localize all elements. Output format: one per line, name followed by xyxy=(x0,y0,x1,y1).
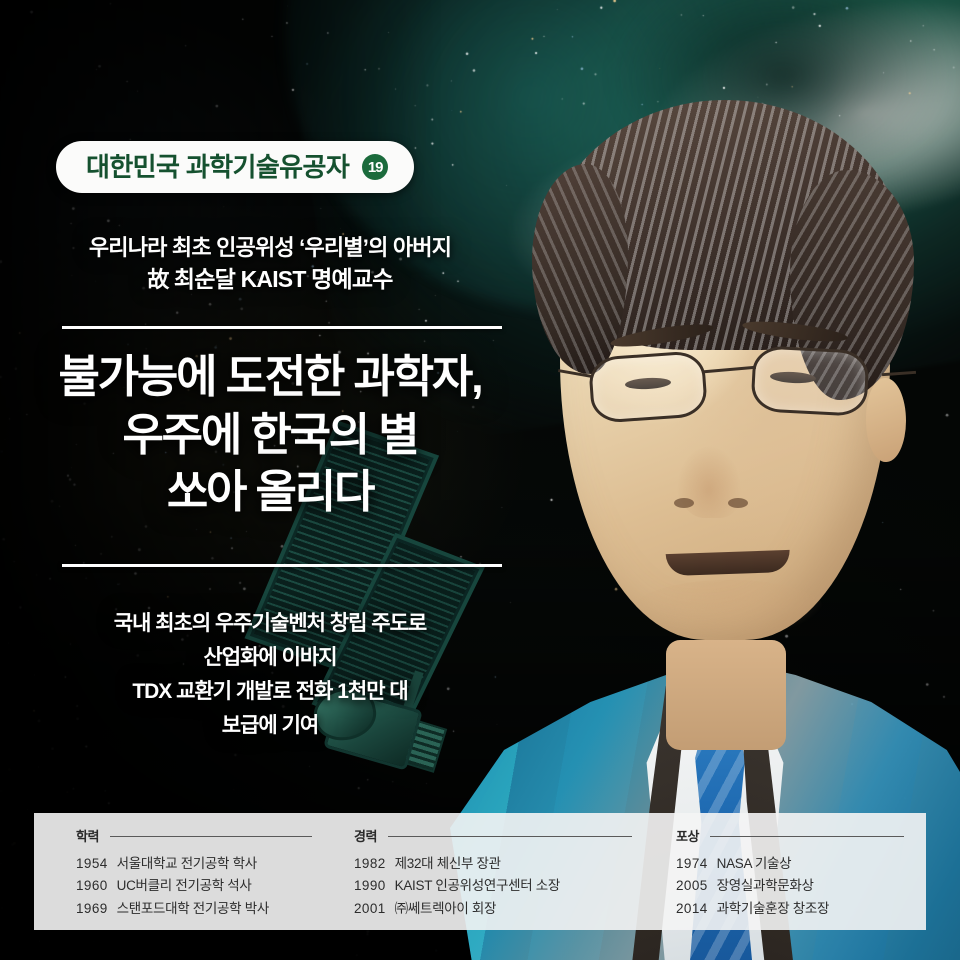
blurb-line-1: 국내 최초의 우주기술벤처 창립 주도로 xyxy=(0,607,540,641)
education-title: 학력 xyxy=(76,830,99,843)
text-content: 대한민국 과학기술유공자 19 우리나라 최초 인공위성 ‘우리별’의 아버지 … xyxy=(0,0,560,830)
education-rows: 1954 서울대학교 전기공학 학사 1960 UC버클리 전기공학 석사 19… xyxy=(76,853,334,920)
awards-heading: 포상 xyxy=(676,830,926,843)
entry-year: 1974 xyxy=(676,853,708,875)
list-item: 2014 과학기술훈장 창조장 xyxy=(676,898,926,920)
career-heading: 경력 xyxy=(354,830,654,843)
blurb-line-4: 보급에 기여 xyxy=(0,709,540,743)
entry-text: 서울대학교 전기공학 학사 xyxy=(117,853,257,875)
awards-heading-rule xyxy=(710,836,904,837)
divider-top xyxy=(62,326,502,329)
career-title: 경력 xyxy=(354,830,377,843)
series-badge-number: 19 xyxy=(362,154,388,180)
portrait-mouth xyxy=(666,550,791,576)
awards-title: 포상 xyxy=(676,830,699,843)
poster-card: 대한민국 과학기술유공자 19 우리나라 최초 인공위성 ‘우리별’의 아버지 … xyxy=(0,0,960,960)
subtitle: 우리나라 최초 인공위성 ‘우리별’의 아버지 故 최순달 KAIST 명예교수 xyxy=(0,232,540,296)
headline-line-3: 쏘아 올리다 xyxy=(0,463,540,521)
footer-column-career: 경력 1982 제32대 체신부 장관 1990 KAIST 인공위성연구센터 … xyxy=(334,830,654,930)
blurb-line-2: 산업화에 이바지 xyxy=(0,641,540,675)
subtitle-line-2: 故 최순달 KAIST 명예교수 xyxy=(0,263,540,296)
entry-year: 2014 xyxy=(676,898,708,920)
list-item: 1974 NASA 기술상 xyxy=(676,853,926,875)
entry-year: 2005 xyxy=(676,875,708,897)
entry-year: 1990 xyxy=(354,875,386,897)
entry-text: ㈜쎄트렉아이 회장 xyxy=(395,898,497,920)
profile-footer-panel: 학력 1954 서울대학교 전기공학 학사 1960 UC버클리 전기공학 석사… xyxy=(34,813,926,930)
list-item: 1982 제32대 체신부 장관 xyxy=(354,853,654,875)
education-heading-rule xyxy=(110,836,312,837)
entry-text: 장영실과학문화상 xyxy=(717,875,814,897)
list-item: 2005 장영실과학문화상 xyxy=(676,875,926,897)
portrait-chin xyxy=(634,580,824,638)
headline-line-1: 불가능에 도전한 과학자, xyxy=(0,348,540,406)
series-badge: 대한민국 과학기술유공자 19 xyxy=(56,141,414,193)
entry-text: KAIST 인공위성연구센터 소장 xyxy=(395,875,560,897)
headline: 불가능에 도전한 과학자, 우주에 한국의 별 쏘아 올리다 xyxy=(0,348,540,521)
divider-bottom xyxy=(62,564,502,567)
portrait-nostril-left xyxy=(674,498,694,508)
achievement-blurb: 국내 최초의 우주기술벤처 창립 주도로 산업화에 이바지 TDX 교환기 개발… xyxy=(0,607,540,743)
list-item: 1990 KAIST 인공위성연구센터 소장 xyxy=(354,875,654,897)
list-item: 1969 스탠포드대학 전기공학 박사 xyxy=(76,898,334,920)
blurb-line-3: TDX 교환기 개발로 전화 1천만 대 xyxy=(0,675,540,709)
series-badge-label: 대한민국 과학기술유공자 xyxy=(86,154,349,180)
career-rows: 1982 제32대 체신부 장관 1990 KAIST 인공위성연구센터 소장 … xyxy=(354,853,654,920)
entry-year: 1954 xyxy=(76,853,108,875)
list-item: 2001 ㈜쎄트렉아이 회장 xyxy=(354,898,654,920)
list-item: 1960 UC버클리 전기공학 석사 xyxy=(76,875,334,897)
entry-text: UC버클리 전기공학 석사 xyxy=(117,875,252,897)
portrait-neck xyxy=(666,640,786,750)
entry-text: 스탠포드대학 전기공학 박사 xyxy=(117,898,269,920)
entry-text: 과학기술훈장 창조장 xyxy=(717,898,830,920)
subtitle-honorific: 故 xyxy=(147,267,174,292)
portrait-nostril-right xyxy=(728,498,748,508)
entry-year: 1982 xyxy=(354,853,386,875)
footer-column-education: 학력 1954 서울대학교 전기공학 학사 1960 UC버클리 전기공학 석사… xyxy=(34,830,334,930)
awards-rows: 1974 NASA 기술상 2005 장영실과학문화상 2014 과학기술훈장 … xyxy=(676,853,926,920)
footer-column-awards: 포상 1974 NASA 기술상 2005 장영실과학문화상 2014 과학기술… xyxy=(654,830,926,930)
career-heading-rule xyxy=(388,836,632,837)
education-heading: 학력 xyxy=(76,830,334,843)
entry-year: 1960 xyxy=(76,875,108,897)
list-item: 1954 서울대학교 전기공학 학사 xyxy=(76,853,334,875)
headline-line-2: 우주에 한국의 별 xyxy=(0,406,540,464)
subtitle-name: 최순달 KAIST 명예교수 xyxy=(174,266,393,292)
subtitle-line-1: 우리나라 최초 인공위성 ‘우리별’의 아버지 xyxy=(0,232,540,263)
entry-text: NASA 기술상 xyxy=(717,853,792,875)
entry-year: 1969 xyxy=(76,898,108,920)
entry-year: 2001 xyxy=(354,898,386,920)
entry-text: 제32대 체신부 장관 xyxy=(395,853,501,875)
